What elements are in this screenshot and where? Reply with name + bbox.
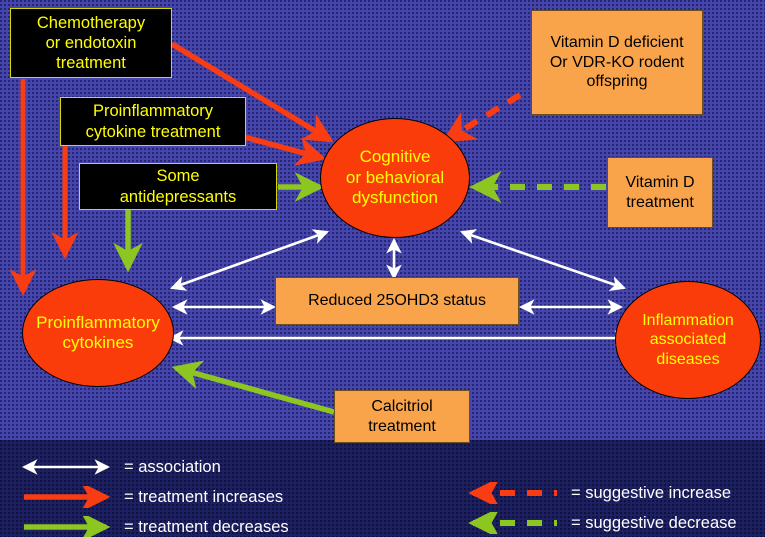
vitd-treatment-line-1: Vitamin D xyxy=(625,173,694,193)
inflammation-line-2: associated xyxy=(642,330,734,349)
diagram-canvas: Chemotherapy or endotoxin treatment Proi… xyxy=(0,0,765,537)
arrow-vitd-deficient-to-cognitive xyxy=(446,95,520,140)
cognitive-line-1: Cognitive xyxy=(346,147,444,167)
node-vitamin-d-deficient-vdr-ko[interactable]: Vitamin D deficient Or VDR-KO rodent off… xyxy=(531,10,703,115)
legend-right: = suggestive increase = suggestive decre… xyxy=(465,478,737,537)
legend-item-treatment-decreases: = treatment decreases xyxy=(18,512,289,537)
antidepressants-line-1: Some xyxy=(120,166,237,186)
node-inflammation-associated-diseases[interactable]: Inflammation associated diseases xyxy=(615,281,761,399)
inflammation-line-3: diseases xyxy=(642,350,734,369)
vitd-deficient-line-2: Or VDR-KO rodent xyxy=(550,53,684,73)
arrow-calcitriol-to-cytokines xyxy=(176,368,334,412)
cytokines-line-1: Proinflammatory xyxy=(36,313,160,333)
legend-label-treatment-increases: = treatment increases xyxy=(122,488,283,507)
chemotherapy-line-1: Chemotherapy xyxy=(37,13,145,33)
calcitriol-line-2: treatment xyxy=(368,417,436,437)
inflammation-line-1: Inflammation xyxy=(642,311,734,330)
reduced-status-label: Reduced 25OHD3 status xyxy=(308,291,486,311)
decrease-arrow-icon xyxy=(18,516,114,537)
cognitive-line-2: or behavioral xyxy=(346,168,444,188)
legend-item-suggestive-decrease: = suggestive decrease xyxy=(465,508,737,537)
node-calcitriol-treatment[interactable]: Calcitriol treatment xyxy=(334,390,470,443)
antidepressants-line-2: antidepressants xyxy=(120,187,237,207)
vitd-treatment-line-2: treatment xyxy=(625,193,694,213)
legend-item-association: = association xyxy=(18,452,289,482)
legend-item-suggestive-increase: = suggestive increase xyxy=(465,478,737,508)
node-proinflammatory-cytokine-treatment[interactable]: Proinflammatory cytokine treatment xyxy=(60,97,246,146)
legend-item-treatment-increases: = treatment increases xyxy=(18,482,289,512)
node-some-antidepressants[interactable]: Some antidepressants xyxy=(79,163,277,210)
cytokine-treatment-line-1: Proinflammatory xyxy=(86,101,221,121)
legend-label-suggestive-decrease: = suggestive decrease xyxy=(569,514,737,533)
suggestive-increase-arrow-icon xyxy=(465,482,561,504)
cognitive-line-3: dysfunction xyxy=(346,188,444,208)
legend-left: = association = treatment increases xyxy=(18,452,289,537)
calcitriol-line-1: Calcitriol xyxy=(368,397,436,417)
chemotherapy-line-3: treatment xyxy=(37,53,145,73)
node-cognitive-dysfunction[interactable]: Cognitive or behavioral dysfunction xyxy=(320,118,470,238)
increase-arrow-icon xyxy=(18,486,114,508)
node-vitamin-d-treatment[interactable]: Vitamin D treatment xyxy=(607,157,713,228)
cytokines-line-2: cytokines xyxy=(36,333,160,353)
legend-label-treatment-decreases: = treatment decreases xyxy=(122,518,289,537)
vitd-deficient-line-1: Vitamin D deficient xyxy=(550,33,684,53)
node-reduced-25ohd3-status[interactable]: Reduced 25OHD3 status xyxy=(275,277,519,325)
legend-label-suggestive-increase: = suggestive increase xyxy=(569,484,731,503)
association-arrow-icon xyxy=(18,456,114,478)
node-proinflammatory-cytokines[interactable]: Proinflammatory cytokines xyxy=(22,279,174,387)
legend-label-association: = association xyxy=(122,458,221,477)
vitd-deficient-line-3: offspring xyxy=(550,72,684,92)
cytokine-treatment-line-2: cytokine treatment xyxy=(86,122,221,142)
node-chemotherapy-treatment[interactable]: Chemotherapy or endotoxin treatment xyxy=(10,8,172,78)
chemotherapy-line-2: or endotoxin xyxy=(37,33,145,53)
suggestive-decrease-arrow-icon xyxy=(465,512,561,534)
